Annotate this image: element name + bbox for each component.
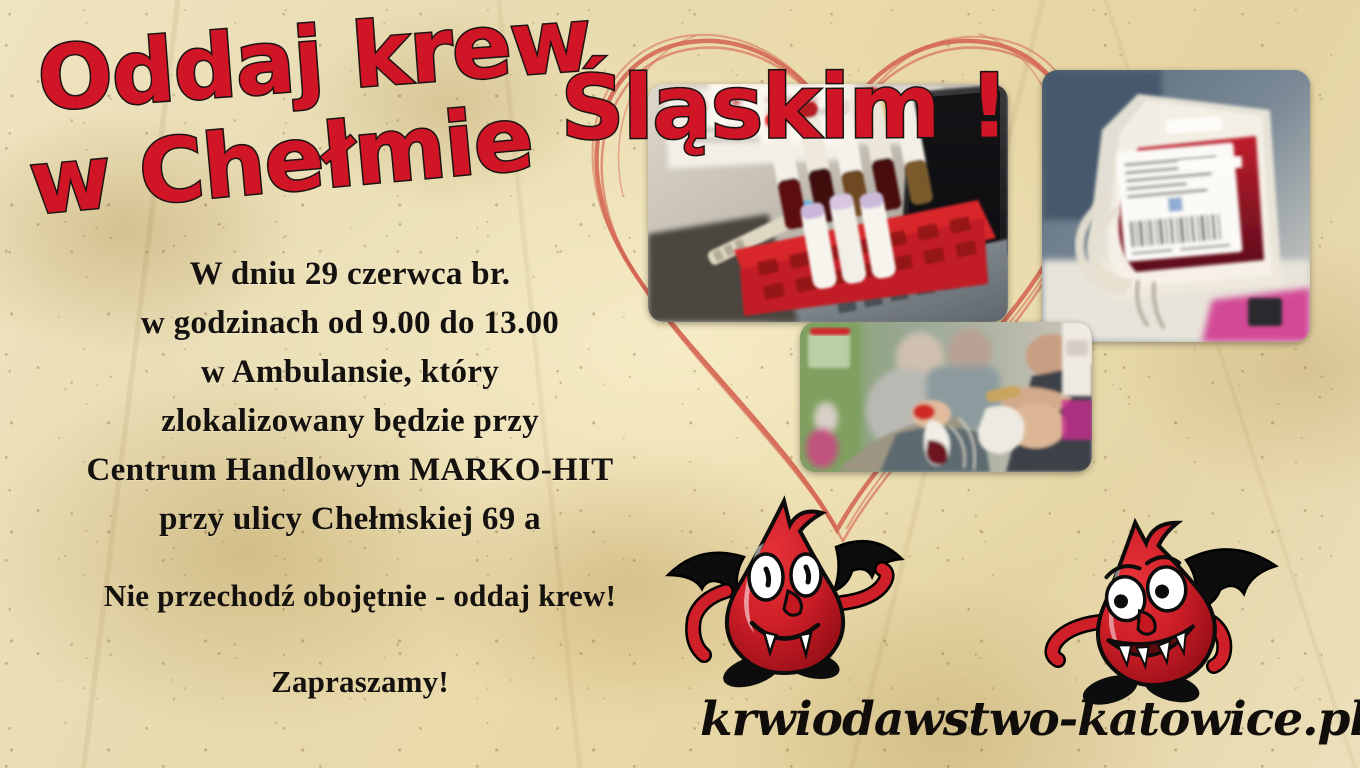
invitation-text: Zapraszamy!: [10, 664, 710, 700]
detail-line: W dniu 29 czerwca br.: [0, 250, 700, 299]
blood-sample-tubes-photo: [648, 84, 1008, 322]
poster-canvas: Oddaj krew w Chełmie Śląskim ! W dniu 29…: [0, 0, 1360, 768]
slogan-text: Nie przechodź obojętnie - oddaj krew!: [10, 578, 710, 614]
detail-line: zlokalizowany będzie przy: [0, 397, 700, 446]
event-details: W dniu 29 czerwca br. w godzinach od 9.0…: [0, 250, 700, 544]
detail-line: w Ambulansie, który: [0, 348, 700, 397]
website-url[interactable]: krwiodawstwo-katowice.pl: [700, 692, 1320, 747]
blood-donors-photo: [800, 322, 1092, 472]
headline-line-1: Oddaj krew: [34, 0, 594, 131]
detail-line: przy ulicy Chełmskiej 69 a: [0, 495, 700, 544]
detail-line: Centrum Handlowym MARKO-HIT: [0, 446, 700, 495]
detail-line: w godzinach od 9.00 do 13.00: [0, 299, 700, 348]
headline-line-2-part-a: w Chełmie: [25, 84, 566, 235]
blood-drop-vampire-right: [1028, 510, 1298, 710]
blood-bag-photo: [1042, 70, 1310, 342]
